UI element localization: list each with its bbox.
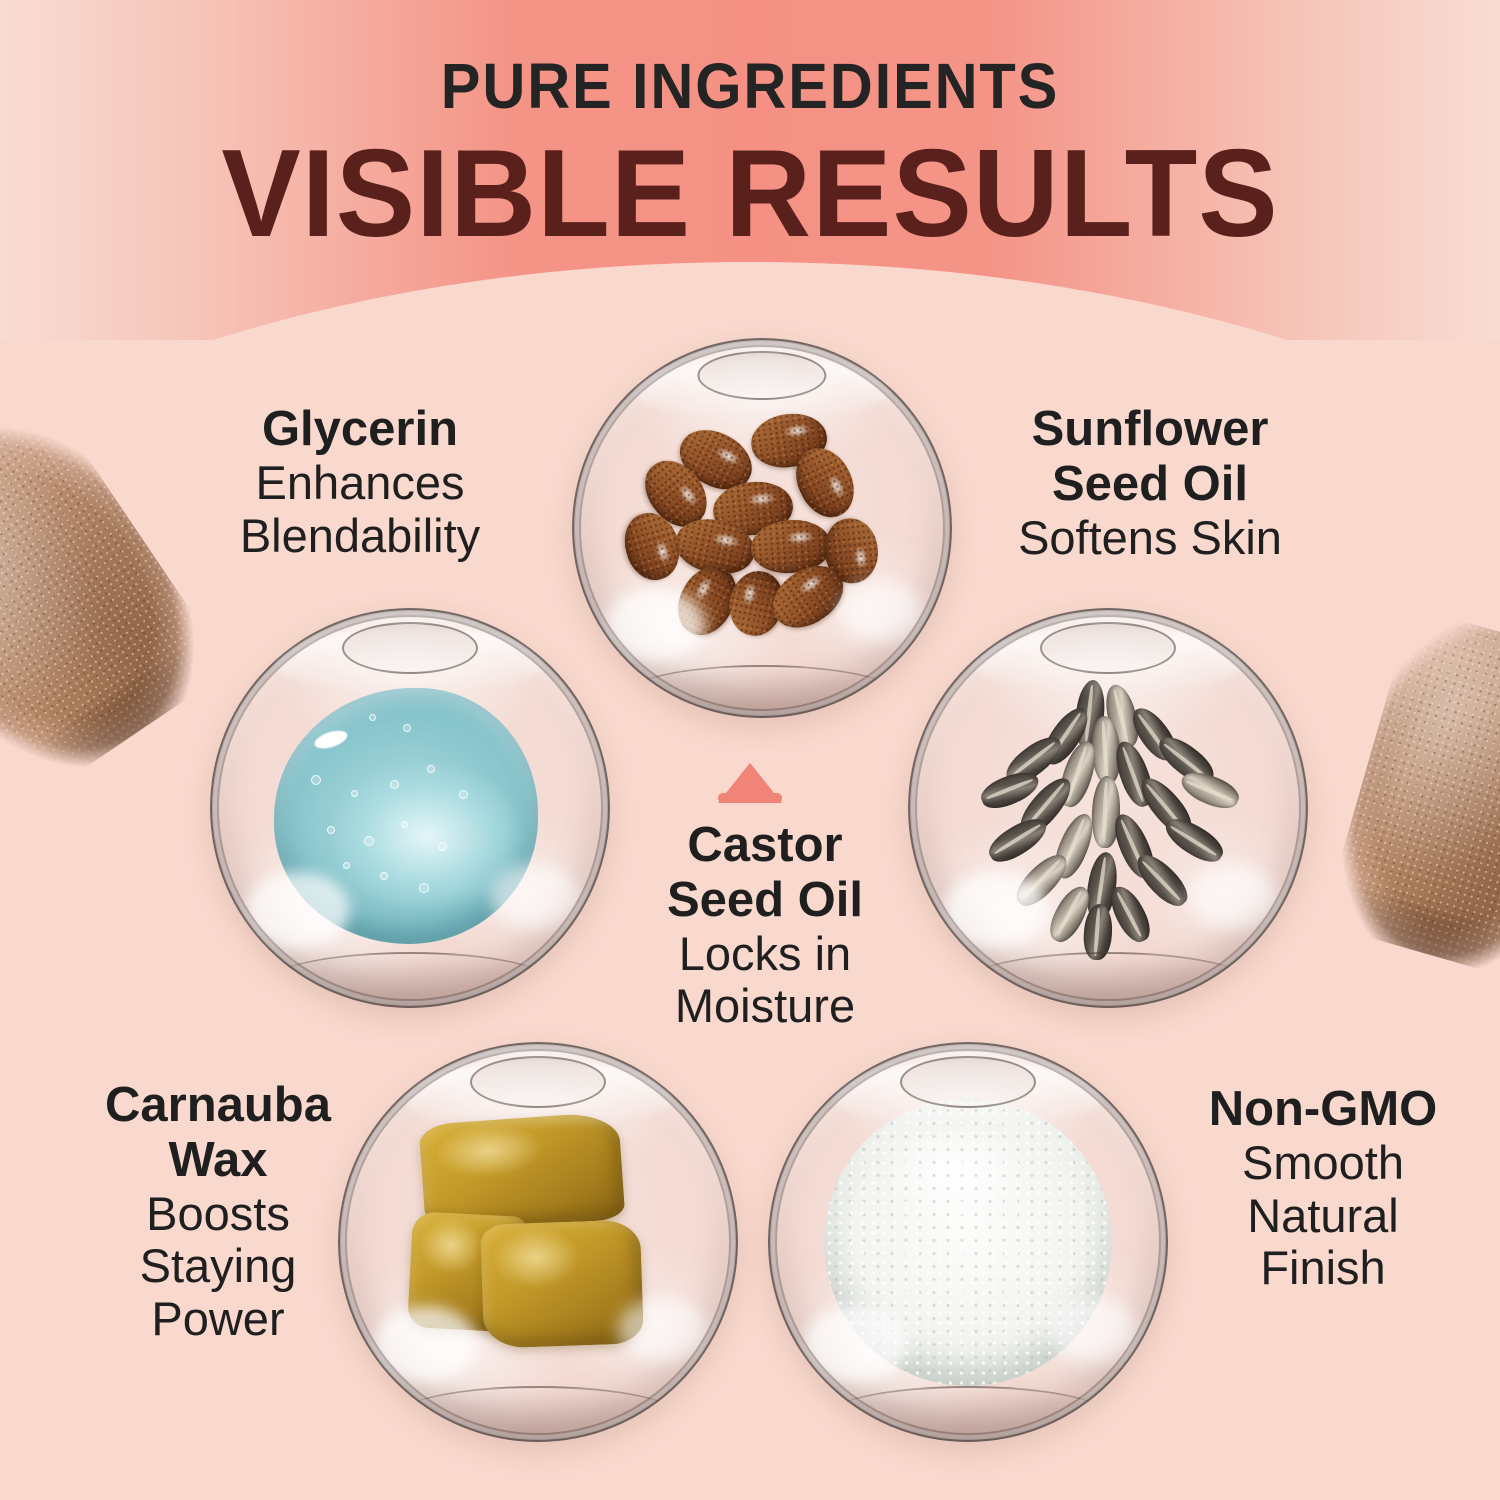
ingredient-desc: Finish — [1158, 1242, 1488, 1295]
ingredient-sphere-sunflower-seed-oil — [908, 608, 1308, 1008]
ingredient-label-carnauba-wax: Carnauba Wax Boosts Staying Power — [48, 1078, 388, 1346]
foundation-swatch-right — [1322, 607, 1500, 983]
ingredient-desc: Softens Skin — [960, 512, 1340, 565]
ingredient-desc: Locks in — [600, 928, 930, 981]
ingredient-name: Wax — [48, 1133, 388, 1188]
ingredient-name: Glycerin — [150, 402, 570, 457]
sphere-rim — [210, 608, 610, 1008]
ingredient-label-sunflower-seed-oil: Sunflower Seed Oil Softens Skin — [960, 402, 1340, 564]
title-block: PURE INGREDIENTS VISIBLE RESULTS — [0, 0, 1500, 256]
ingredient-label-glycerin: Glycerin Enhances Blendability — [150, 402, 570, 562]
headline-text: VISIBLE RESULTS — [30, 132, 1470, 256]
ingredient-name: Sunflower — [960, 402, 1340, 457]
ingredient-desc: Moisture — [600, 980, 930, 1033]
ingredient-desc: Enhances — [150, 457, 570, 510]
ingredient-sphere-glycerin — [210, 608, 610, 1008]
castor-pointer-triangle-icon — [718, 763, 782, 803]
ingredient-desc: Staying — [48, 1240, 388, 1293]
sphere-rim — [338, 1042, 738, 1442]
ingredient-desc: Natural — [1158, 1190, 1488, 1243]
ingredient-name: Carnauba — [48, 1078, 388, 1133]
ingredient-desc: Smooth — [1158, 1137, 1488, 1190]
sphere-rim — [572, 338, 952, 718]
header-curve-divider — [0, 262, 1500, 340]
ingredient-sphere-carnauba-wax — [338, 1042, 738, 1442]
ingredient-label-non-gmo: Non-GMO Smooth Natural Finish — [1158, 1082, 1488, 1295]
ingredient-label-castor-seed-oil: Castor Seed Oil Locks in Moisture — [600, 818, 930, 1033]
ingredient-name: Seed Oil — [600, 873, 930, 928]
ingredient-name: Seed Oil — [960, 457, 1340, 512]
ingredient-desc: Blendability — [150, 510, 570, 563]
ingredient-name: Non-GMO — [1158, 1082, 1488, 1137]
sphere-rim — [908, 608, 1308, 1008]
ingredient-sphere-castor-seed-oil — [572, 338, 952, 718]
swatch-body — [1322, 607, 1500, 983]
ingredient-desc: Power — [48, 1293, 388, 1346]
ingredient-desc: Boosts — [48, 1188, 388, 1241]
sphere-rim — [768, 1042, 1168, 1442]
eyebrow-text: PURE INGREDIENTS — [53, 54, 1448, 118]
ingredient-name: Castor — [600, 818, 930, 873]
ingredient-sphere-non-gmo — [768, 1042, 1168, 1442]
